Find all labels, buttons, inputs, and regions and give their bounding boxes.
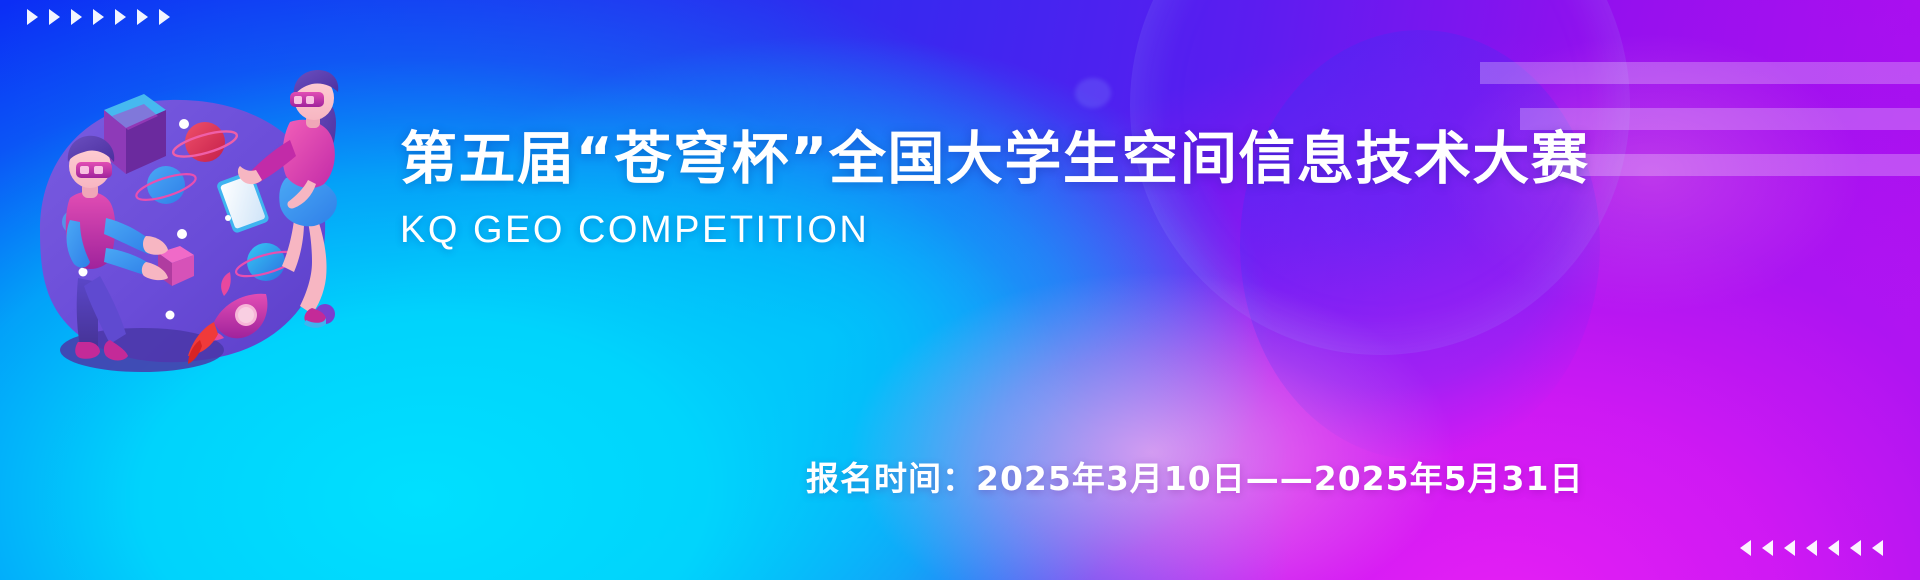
bottom-right-arrow-row bbox=[1740, 540, 1883, 556]
triangle-right-icon bbox=[115, 9, 126, 25]
triangle-left-icon bbox=[1762, 540, 1773, 556]
triangle-left-icon bbox=[1806, 540, 1817, 556]
star bbox=[79, 268, 88, 277]
stripe-1 bbox=[1480, 62, 1920, 84]
triangle-left-icon bbox=[1828, 540, 1839, 556]
vr-space-illustration bbox=[18, 70, 358, 380]
triangle-left-icon bbox=[1740, 540, 1751, 556]
triangle-right-icon bbox=[27, 9, 38, 25]
stripe-3 bbox=[1552, 154, 1920, 176]
headline-block: 第五届“苍穹杯”全国大学生空间信息技术大赛 KQ GEO COMPETITION bbox=[400, 128, 1589, 252]
triangle-right-icon bbox=[49, 9, 60, 25]
star bbox=[225, 215, 231, 221]
triangle-right-icon bbox=[137, 9, 148, 25]
triangle-left-icon bbox=[1784, 540, 1795, 556]
triangle-right-icon bbox=[159, 9, 170, 25]
triangle-left-icon bbox=[1850, 540, 1861, 556]
triangle-right-icon bbox=[71, 9, 82, 25]
triangle-right-icon bbox=[93, 9, 104, 25]
competition-banner: 第五届“苍穹杯”全国大学生空间信息技术大赛 KQ GEO COMPETITION… bbox=[0, 0, 1920, 580]
background-dot bbox=[1075, 78, 1111, 108]
page-title: 第五届“苍穹杯”全国大学生空间信息技术大赛 bbox=[400, 128, 1589, 191]
star bbox=[179, 119, 189, 129]
top-left-arrow-row bbox=[27, 9, 170, 25]
page-subtitle: KQ GEO COMPETITION bbox=[400, 209, 1589, 252]
registration-period-text: 报名时间：2025年3月10日——2025年5月31日 bbox=[806, 452, 1583, 500]
triangle-left-icon bbox=[1872, 540, 1883, 556]
star bbox=[166, 311, 175, 320]
star bbox=[177, 229, 187, 239]
